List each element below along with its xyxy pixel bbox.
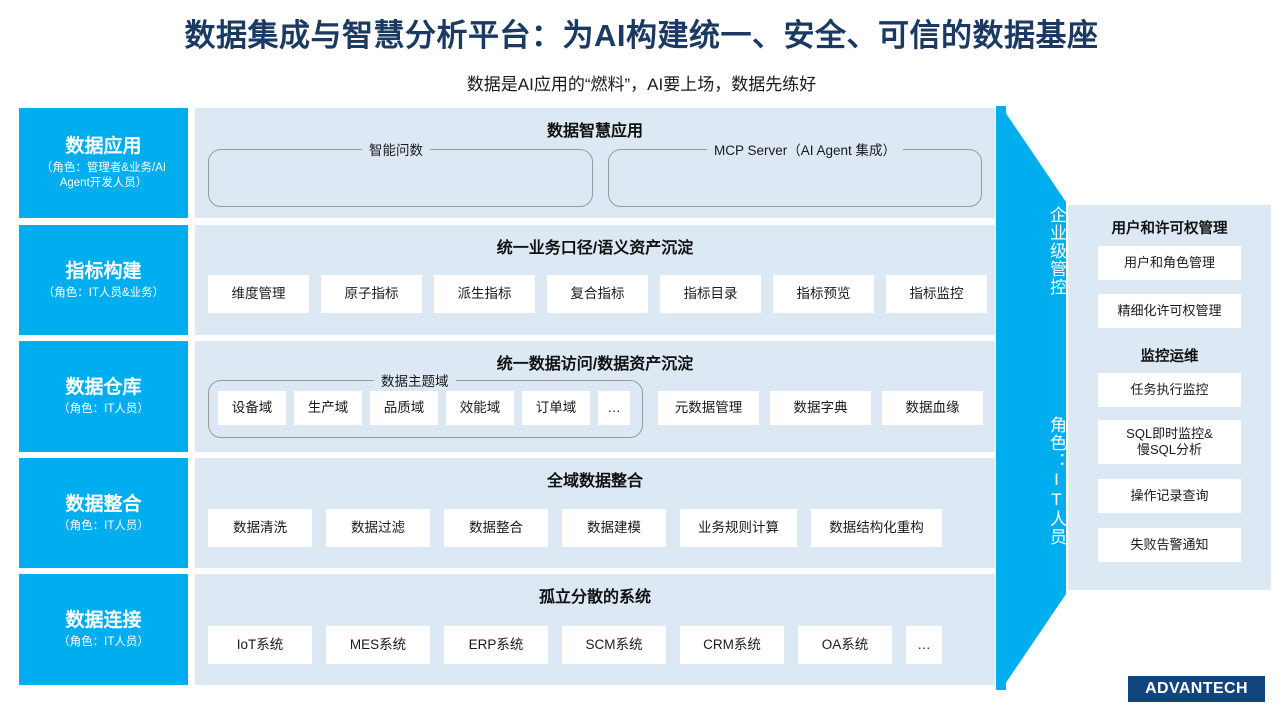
layer-role: （角色：IT人员） — [58, 519, 149, 534]
layer-title: 数据连接 — [65, 609, 141, 633]
layer-title: 数据应用 — [65, 135, 141, 159]
chip-metadata-management[interactable]: 元数据管理 — [658, 391, 759, 425]
chip-equipment-domain[interactable]: 设备域 — [218, 391, 286, 425]
advantech-logo-text: ADVANTECH — [1145, 680, 1248, 698]
layer-label-data-warehouse[interactable]: 数据仓库 （角色：IT人员） — [19, 341, 188, 452]
chip-data-restructuring[interactable]: 数据结构化重构 — [811, 509, 942, 547]
chip-sql-realtime-monitoring[interactable]: SQL即时监控& 慢SQL分析 — [1098, 420, 1241, 464]
advantech-logo: ADVANTECH — [1128, 676, 1265, 702]
chip-production-domain[interactable]: 生产域 — [294, 391, 362, 425]
layer-label-data-application[interactable]: 数据应用 （角色：管理者&业务/AI Agent开发人员） — [19, 108, 188, 218]
chip-failure-alert-notification[interactable]: 失败告警通知 — [1098, 528, 1241, 562]
chip-row-data-governance: 元数据管理 数据字典 数据血缘 — [658, 391, 983, 425]
chip-mes-system[interactable]: MES系统 — [326, 626, 430, 664]
chip-row-data-integration: 数据清洗 数据过滤 数据整合 数据建模 业务规则计算 数据结构化重构 — [208, 509, 942, 547]
right-panel: 用户和许可权管理 用户和角色管理 精细化许可权管理 监控运维 任务执行监控 SQ… — [1068, 205, 1271, 590]
chip-operation-log-query[interactable]: 操作记录查询 — [1098, 479, 1241, 513]
chip-quality-domain[interactable]: 品质域 — [370, 391, 438, 425]
layer-label-data-integration[interactable]: 数据整合 （角色：IT人员） — [19, 458, 188, 568]
chip-atomic-metric[interactable]: 原子指标 — [321, 275, 422, 313]
layer-title: 数据整合 — [65, 493, 141, 517]
chip-business-rule-calculation[interactable]: 业务规则计算 — [680, 509, 797, 547]
chip-user-role-management[interactable]: 用户和角色管理 — [1098, 246, 1241, 280]
chip-derived-metric[interactable]: 派生指标 — [434, 275, 535, 313]
chip-data-modeling[interactable]: 数据建模 — [562, 509, 666, 547]
chip-order-domain[interactable]: 订单域 — [522, 391, 590, 425]
layer-role: （角色：管理者&业务/AI Agent开发人员） — [25, 161, 182, 190]
layer-title: 数据仓库 — [65, 376, 141, 400]
chip-data-consolidation[interactable]: 数据整合 — [444, 509, 548, 547]
layer-heading: 全域数据整合 — [195, 458, 995, 491]
chip-metric-catalog[interactable]: 指标目录 — [660, 275, 761, 313]
chip-data-filtering[interactable]: 数据过滤 — [326, 509, 430, 547]
chip-fine-grained-permission-management[interactable]: 精细化许可权管理 — [1098, 294, 1241, 328]
page-subtitle: 数据是AI应用的“燃料”，AI要上场，数据先练好 — [0, 70, 1283, 95]
layer-heading: 孤立分散的系统 — [195, 574, 995, 607]
page-title: 数据集成与智慧分析平台：为AI构建统一、安全、可信的数据基座 — [0, 10, 1283, 55]
chip-row-data-subject-domain: 设备域 生产域 品质域 效能域 订单域 … — [218, 391, 630, 425]
group-mcp-server: MCP Server（AI Agent 集成） — [608, 149, 982, 207]
layer-heading: 数据智慧应用 — [195, 108, 995, 141]
chip-more-domains[interactable]: … — [598, 391, 630, 425]
group-intelligent-query: 智能问数 — [208, 149, 593, 207]
chip-iot-system[interactable]: IoT系统 — [208, 626, 312, 664]
governance-band-line2: 角色：IT人员 — [996, 416, 1066, 546]
layer-role: （角色：IT人员） — [58, 635, 149, 650]
layer-label-data-connection[interactable]: 数据连接 （角色：IT人员） — [19, 574, 188, 685]
chip-erp-system[interactable]: ERP系统 — [444, 626, 548, 664]
layer-body-data-application: 数据智慧应用 智能问数 自然语言 对话 指标检索 图表生成 多维分析 MCP S… — [195, 108, 995, 218]
layer-title: 指标构建 — [65, 260, 141, 284]
governance-band-line1: 企业级管控 — [996, 206, 1066, 296]
chip-crm-system[interactable]: CRM系统 — [680, 626, 784, 664]
governance-band: 企业级管控 角色：IT人员 — [996, 106, 1066, 690]
layer-heading: 统一数据访问/数据资产沉淀 — [195, 341, 995, 374]
layer-role: （角色：IT人员&业务） — [43, 286, 164, 301]
group-caption: 数据主题域 — [374, 370, 456, 390]
right-panel-heading-monitoring: 监控运维 — [1068, 345, 1271, 366]
group-caption: 智能问数 — [362, 139, 430, 159]
chip-metric-preview[interactable]: 指标预览 — [773, 275, 874, 313]
chip-row-data-connection: IoT系统 MES系统 ERP系统 SCM系统 CRM系统 OA系统 … — [208, 626, 942, 664]
chip-metric-monitoring[interactable]: 指标监控 — [886, 275, 987, 313]
group-caption: MCP Server（AI Agent 集成） — [707, 139, 903, 159]
chip-composite-metric[interactable]: 复合指标 — [547, 275, 648, 313]
chip-task-execution-monitoring[interactable]: 任务执行监控 — [1098, 373, 1241, 407]
chip-data-dictionary[interactable]: 数据字典 — [770, 391, 871, 425]
chip-dimension-management[interactable]: 维度管理 — [208, 275, 309, 313]
right-panel-heading-permissions: 用户和许可权管理 — [1068, 217, 1271, 238]
layer-label-metric-construction[interactable]: 指标构建 （角色：IT人员&业务） — [19, 225, 188, 335]
chip-more-systems[interactable]: … — [906, 626, 942, 664]
chip-data-lineage[interactable]: 数据血缘 — [882, 391, 983, 425]
chip-data-cleansing[interactable]: 数据清洗 — [208, 509, 312, 547]
chip-scm-system[interactable]: SCM系统 — [562, 626, 666, 664]
chip-oa-system[interactable]: OA系统 — [798, 626, 892, 664]
chip-efficiency-domain[interactable]: 效能域 — [446, 391, 514, 425]
layer-role: （角色：IT人员） — [58, 402, 149, 417]
layer-heading: 统一业务口径/语义资产沉淀 — [195, 225, 995, 258]
chip-row-metric-construction: 维度管理 原子指标 派生指标 复合指标 指标目录 指标预览 指标监控 — [208, 275, 987, 313]
